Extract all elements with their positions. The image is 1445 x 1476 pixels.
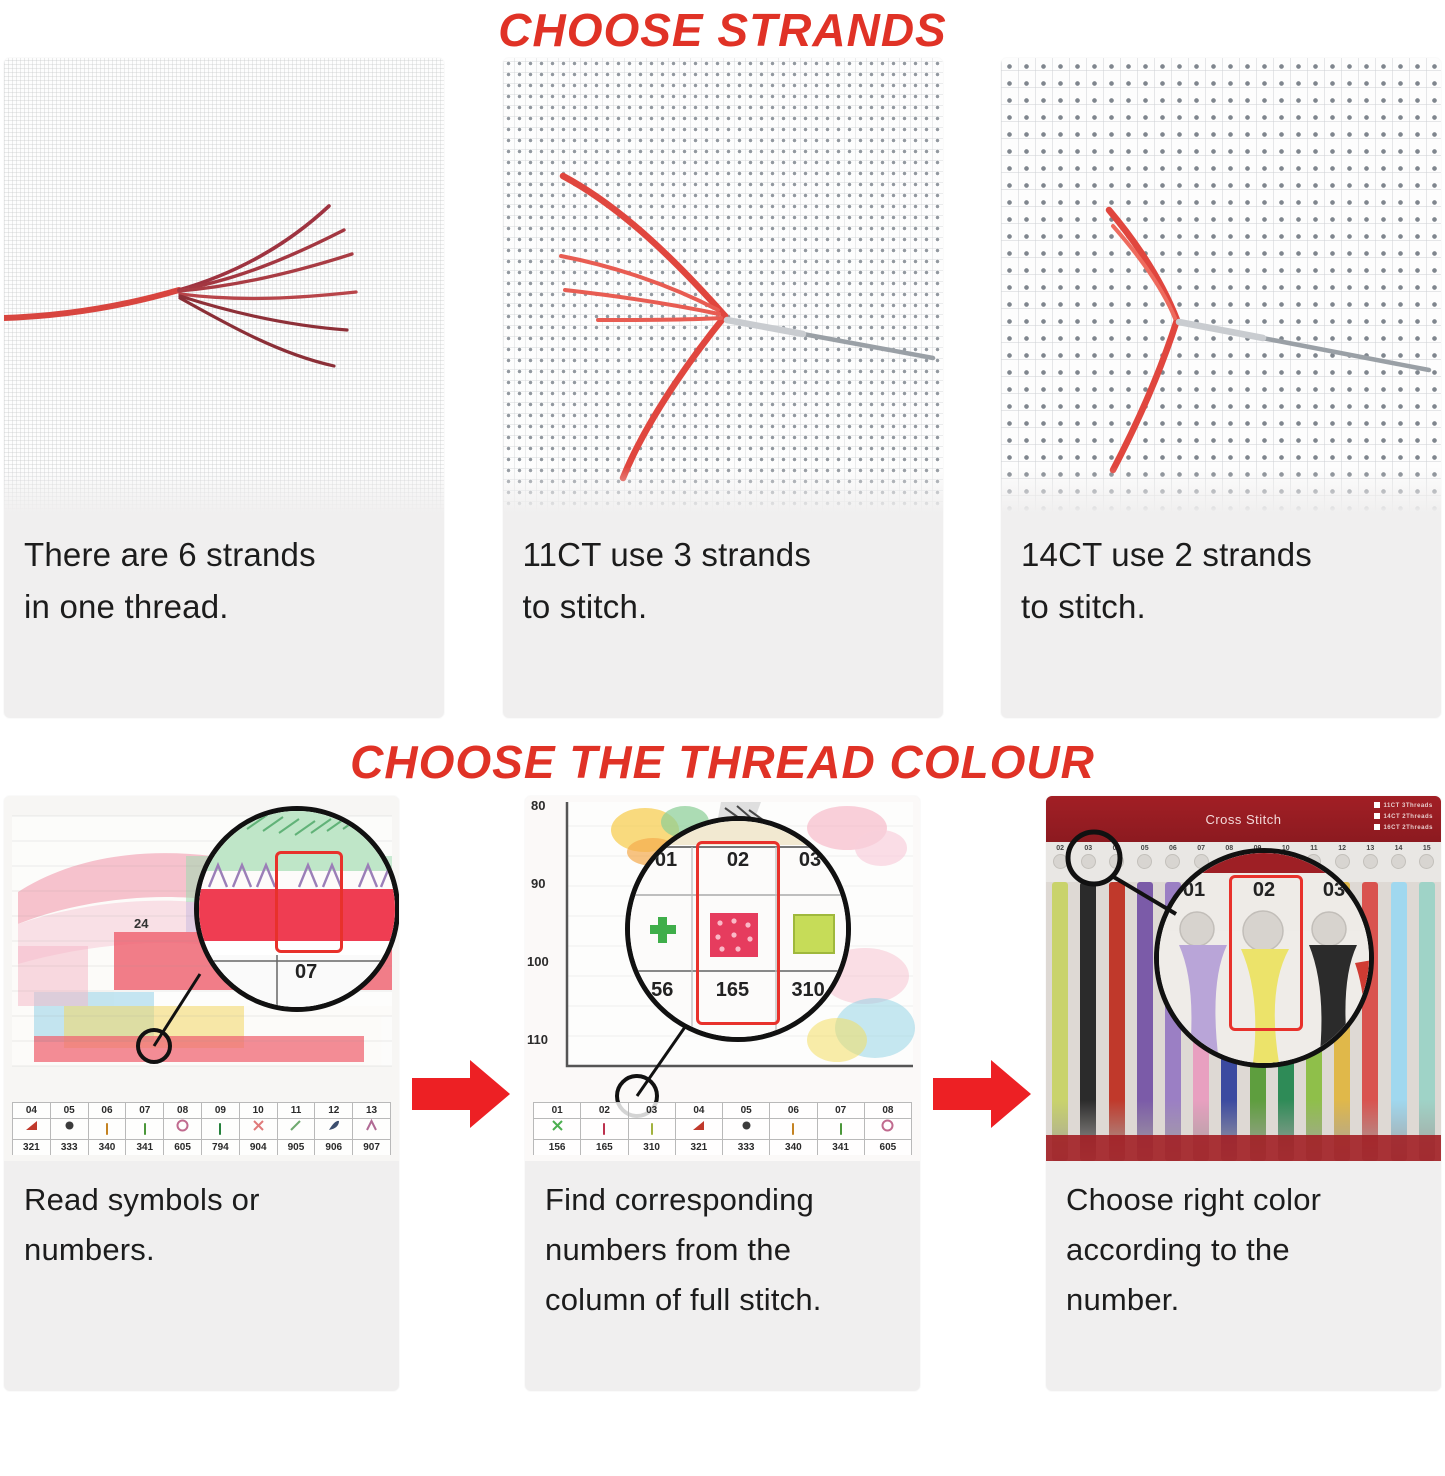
caption-line-1: Read symbols or: [24, 1175, 379, 1225]
six-strands-thread-illustration: [4, 58, 444, 513]
legend-column-symbol: [723, 1119, 769, 1140]
photo-11ct: [503, 58, 943, 513]
legend-column: 08605: [864, 1102, 912, 1155]
photo-pattern-chart: 24: [4, 796, 399, 1161]
card-six-strands: There are 6 strands in one thread.: [4, 58, 444, 718]
legend-column-symbol: [818, 1119, 864, 1140]
legend-column: 05333: [50, 1102, 88, 1155]
caption-11ct: 11CT use 3 strands to stitch.: [503, 513, 943, 633]
photo-14ct: [1001, 58, 1441, 513]
legend-column: 05333: [722, 1102, 769, 1155]
11ct-thread-needle-illustration: [503, 58, 943, 513]
mag-num-03: 03: [1323, 879, 1345, 902]
thread-hole-circle: [1109, 854, 1124, 869]
legend-column-number: 01: [534, 1102, 580, 1119]
legend-column-number: 07: [126, 1102, 163, 1119]
legend-column-dmc: 904: [240, 1140, 277, 1155]
option-11ct: 11CT 3Threads: [1374, 801, 1433, 812]
magnifier-top-numbers: 01 02 03: [630, 849, 846, 872]
caption-line-3: number.: [1066, 1275, 1421, 1325]
legend-symbol-circle-open: [176, 1119, 189, 1139]
legend-column: 08605: [163, 1102, 201, 1155]
legend-column-dmc: 156: [534, 1140, 580, 1155]
legend-column: 12906: [314, 1102, 352, 1155]
legend-column-number: 06: [89, 1102, 126, 1119]
thread-hole: 02: [1051, 844, 1069, 869]
thread-hole-number: 15: [1418, 844, 1436, 853]
card-choose-color: Cross Stitch 11CT 3Threads 14CT 2Threads…: [1046, 796, 1441, 1391]
legend-column-number: 06: [770, 1102, 816, 1119]
photo-six-strands: [4, 58, 444, 513]
caption-line-2: in one thread.: [24, 581, 424, 633]
magnifier-symbols: 3 07: [194, 806, 399, 1012]
option-14ct-label: 14CT 2Threads: [1383, 814, 1433, 820]
legend-column-dmc: 905: [278, 1140, 315, 1155]
thread-card-footer-stripe: [1046, 1135, 1441, 1161]
legend-column-number: 04: [13, 1102, 50, 1119]
card-read-symbols: 24: [4, 796, 399, 1391]
caption-line-2: to stitch.: [1021, 581, 1421, 633]
legend-column-symbol: [676, 1119, 722, 1140]
legend-column-dmc: 605: [865, 1140, 911, 1155]
thread-hole: 14: [1390, 844, 1408, 869]
thread-hole-number: 14: [1390, 844, 1408, 853]
option-16ct: 16CT 2Threads: [1374, 823, 1433, 834]
legend-column-dmc: 165: [581, 1140, 627, 1155]
legend-column-number: 04: [676, 1102, 722, 1119]
legend-column: 06340: [88, 1102, 126, 1155]
colour-card-row: 24: [0, 796, 1445, 1396]
thread-hole-circle: [1137, 854, 1152, 869]
legend-column: 02165: [580, 1102, 627, 1155]
legend-column-symbol: [13, 1119, 50, 1140]
page-title-choose-strands: CHOOSE STRANDS: [0, 0, 1445, 58]
legend-column-dmc: 340: [770, 1140, 816, 1155]
legend-symbol-circle-open: [881, 1119, 894, 1139]
caption-line-3: column of full stitch.: [545, 1275, 900, 1325]
thread-hole: 05: [1136, 844, 1154, 869]
legend-symbol-square: [651, 1119, 653, 1139]
legend-symbol-square: [840, 1119, 842, 1139]
caption-14ct: 14CT use 2 strands to stitch.: [1001, 513, 1441, 633]
photo-numbered-chart: 80 90 100 110: [525, 796, 920, 1161]
thread-hole-circle: [1081, 854, 1096, 869]
legend-symbol-square: [792, 1119, 794, 1139]
legend-column-number: 05: [723, 1102, 769, 1119]
mag-dmc-56: 56: [651, 979, 673, 1002]
magnifier-thread-numbers: 01 02 03: [1154, 848, 1374, 1068]
thread-hole-number: 06: [1164, 844, 1182, 853]
legend-symbol-slash: [289, 1119, 302, 1139]
legend-column-number: 12: [315, 1102, 352, 1119]
legend-symbol-feather: [327, 1119, 340, 1139]
legend-table-read-symbols: 0432105333063400734108605097941090411905…: [12, 1102, 391, 1155]
thread-hole-number: 05: [1136, 844, 1154, 853]
legend-column-symbol: [581, 1119, 627, 1140]
legend-column: 04321: [675, 1102, 722, 1155]
legend-column-number: 05: [51, 1102, 88, 1119]
row-marker-90: 90: [531, 876, 545, 891]
legend-symbol-hex-dot: [740, 1119, 753, 1139]
caption-line-2: numbers.: [24, 1225, 379, 1275]
photo-bottom-fade: [1001, 467, 1441, 513]
legend-column-symbol: [353, 1119, 390, 1140]
legend-column-symbol: [534, 1119, 580, 1140]
mag-num-02: 02: [727, 849, 749, 872]
row-marker-100: 100: [527, 954, 549, 969]
legend-column-dmc: 310: [629, 1140, 675, 1155]
thread-skein: [1391, 882, 1407, 1161]
legend-column-number: 08: [164, 1102, 201, 1119]
legend-column-symbol: [865, 1119, 911, 1140]
thread-skein: [1419, 882, 1435, 1161]
legend-column: 13907: [352, 1102, 391, 1155]
legend-column-symbol: [202, 1119, 239, 1140]
magnifier-label-left: 3: [205, 961, 216, 984]
legend-column-symbol: [89, 1119, 126, 1140]
photo-bottom-fade: [4, 467, 444, 513]
thread-skein: [1109, 882, 1125, 1161]
legend-column-number: 10: [240, 1102, 277, 1119]
thread-hole-number: 11: [1305, 844, 1323, 853]
mag-num-02: 02: [1253, 879, 1275, 902]
legend-symbol-triangle: [25, 1119, 38, 1139]
legend-column-dmc: 341: [126, 1140, 163, 1155]
legend-column: 07341: [125, 1102, 163, 1155]
thread-hole-number: 13: [1361, 844, 1379, 853]
legend-column: 11905: [277, 1102, 315, 1155]
legend-symbol-triangle: [692, 1119, 705, 1139]
legend-column-dmc: 907: [353, 1140, 390, 1155]
legend-symbol-square: [219, 1119, 221, 1139]
mag-dmc-165: 165: [716, 979, 749, 1002]
magnifier-label-right: 07: [295, 961, 317, 984]
legend-column: 06340: [769, 1102, 816, 1155]
legend-column-symbol: [278, 1119, 315, 1140]
legend-column: 10904: [239, 1102, 277, 1155]
legend-symbol-cross: [252, 1119, 265, 1139]
legend-symbol-square: [603, 1119, 605, 1139]
legend-column: 04321: [12, 1102, 50, 1155]
photo-thread-card: Cross Stitch 11CT 3Threads 14CT 2Threads…: [1046, 796, 1441, 1161]
legend-column-symbol: [126, 1119, 163, 1140]
legend-column-number: 03: [629, 1102, 675, 1119]
legend-column: 01156: [533, 1102, 580, 1155]
legend-symbol-square: [144, 1119, 146, 1139]
thread-hole: 03: [1079, 844, 1097, 869]
legend-column: 09794: [201, 1102, 239, 1155]
legend-column-symbol: [164, 1119, 201, 1140]
legend-table-find-numbers: 0115602165033100432105333063400734108605: [533, 1102, 912, 1155]
arrow-1-wrap: [407, 796, 517, 1391]
caption-find-numbers: Find corresponding numbers from the colu…: [525, 1161, 920, 1325]
thread-card-banner: Cross Stitch 11CT 3Threads 14CT 2Threads…: [1046, 796, 1441, 842]
mag-num-01: 01: [655, 849, 677, 872]
legend-column-symbol: [315, 1119, 352, 1140]
thread-hole-circle: [1053, 854, 1068, 869]
magnifier-highlight-box: [275, 851, 343, 953]
legend-column-dmc: 333: [51, 1140, 88, 1155]
caption-line-1: 14CT use 2 strands: [1021, 529, 1421, 581]
thread-hole: 15: [1418, 844, 1436, 869]
mag-dmc-310: 310: [791, 979, 824, 1002]
thread-hole-circle: [1419, 854, 1434, 869]
chart-cell-label: 24: [134, 916, 149, 931]
14ct-thread-needle-illustration: [1001, 58, 1441, 513]
caption-line-2: according to the: [1066, 1225, 1421, 1275]
caption-choose-color: Choose right color according to the numb…: [1046, 1161, 1441, 1325]
legend-column-dmc: 341: [818, 1140, 864, 1155]
thread-skein: [1080, 882, 1096, 1161]
caption-six-strands: There are 6 strands in one thread.: [4, 513, 444, 633]
thread-card-title: Cross Stitch: [1205, 812, 1281, 827]
legend-column-symbol: [629, 1119, 675, 1140]
caption-line-1: 11CT use 3 strands: [523, 529, 923, 581]
legend-column-number: 13: [353, 1102, 390, 1119]
legend-symbol-cross: [551, 1119, 564, 1139]
legend-symbol-square: [106, 1119, 108, 1139]
legend-column-dmc: 340: [89, 1140, 126, 1155]
card-find-numbers: 80 90 100 110: [525, 796, 920, 1391]
page-title-choose-thread-colour: CHOOSE THE THREAD COLOUR: [0, 734, 1445, 796]
photo-bottom-fade: [503, 467, 943, 513]
legend-column-dmc: 906: [315, 1140, 352, 1155]
caption-line-2: numbers from the: [545, 1225, 900, 1275]
legend-symbol-hex-dot: [63, 1119, 76, 1139]
row-marker-80: 80: [531, 798, 545, 813]
caption-line-1: There are 6 strands: [24, 529, 424, 581]
legend-column-number: 07: [818, 1102, 864, 1119]
option-11ct-label: 11CT 3Threads: [1383, 803, 1432, 809]
arrow-right-icon: [412, 1054, 512, 1134]
legend-column-dmc: 321: [13, 1140, 50, 1155]
strands-card-row: There are 6 strands in one thread. 11CT …: [0, 58, 1445, 730]
caption-line-2: to stitch.: [523, 581, 923, 633]
legend-column-dmc: 794: [202, 1140, 239, 1155]
thread-hole-number: 02: [1051, 844, 1069, 853]
thread-hole: 04: [1108, 844, 1126, 869]
caption-line-1: Find corresponding: [545, 1175, 900, 1225]
thread-hole-number: 03: [1079, 844, 1097, 853]
mag-num-03: 03: [799, 849, 821, 872]
legend-column-number: 11: [278, 1102, 315, 1119]
legend-column-symbol: [51, 1119, 88, 1140]
legend-column-number: 02: [581, 1102, 627, 1119]
thread-skein: [1137, 882, 1153, 1161]
legend-column-symbol: [770, 1119, 816, 1140]
caption-line-1: Choose right color: [1066, 1175, 1421, 1225]
option-16ct-label: 16CT 2Threads: [1383, 825, 1433, 831]
thread-card-options: 11CT 3Threads 14CT 2Threads 16CT 2Thread…: [1374, 801, 1433, 834]
legend-column: 07341: [817, 1102, 864, 1155]
legend-column-dmc: 605: [164, 1140, 201, 1155]
card-11ct: 11CT use 3 strands to stitch.: [503, 58, 943, 718]
card-14ct: 14CT use 2 strands to stitch.: [1001, 58, 1441, 718]
legend-column-symbol: [240, 1119, 277, 1140]
legend-column-number: 08: [865, 1102, 911, 1119]
caption-read-symbols: Read symbols or numbers.: [4, 1161, 399, 1275]
legend-column-dmc: 333: [723, 1140, 769, 1155]
thread-skein: [1052, 882, 1068, 1161]
thread-hole-number: 12: [1333, 844, 1351, 853]
thread-hole-number: 04: [1108, 844, 1126, 853]
option-14ct: 14CT 2Threads: [1374, 812, 1433, 823]
arrow-2-wrap: [928, 796, 1038, 1391]
legend-symbol-caret: [365, 1119, 378, 1139]
magnifier-thread-numbers-row: 01 02 03: [1159, 879, 1369, 902]
magnifier-numbers: 01 02 03 56 165 310: [625, 816, 851, 1042]
thread-hole-number: 07: [1192, 844, 1210, 853]
thread-hole-circle: [1391, 854, 1406, 869]
legend-column-number: 09: [202, 1102, 239, 1119]
row-marker-110: 110: [527, 1032, 548, 1047]
mag-num-01: 01: [1183, 879, 1205, 902]
arrow-right-icon: [933, 1054, 1033, 1134]
legend-column: 03310: [628, 1102, 675, 1155]
magnifier-bottom-numbers: 56 165 310: [630, 979, 846, 1002]
legend-column-dmc: 321: [676, 1140, 722, 1155]
